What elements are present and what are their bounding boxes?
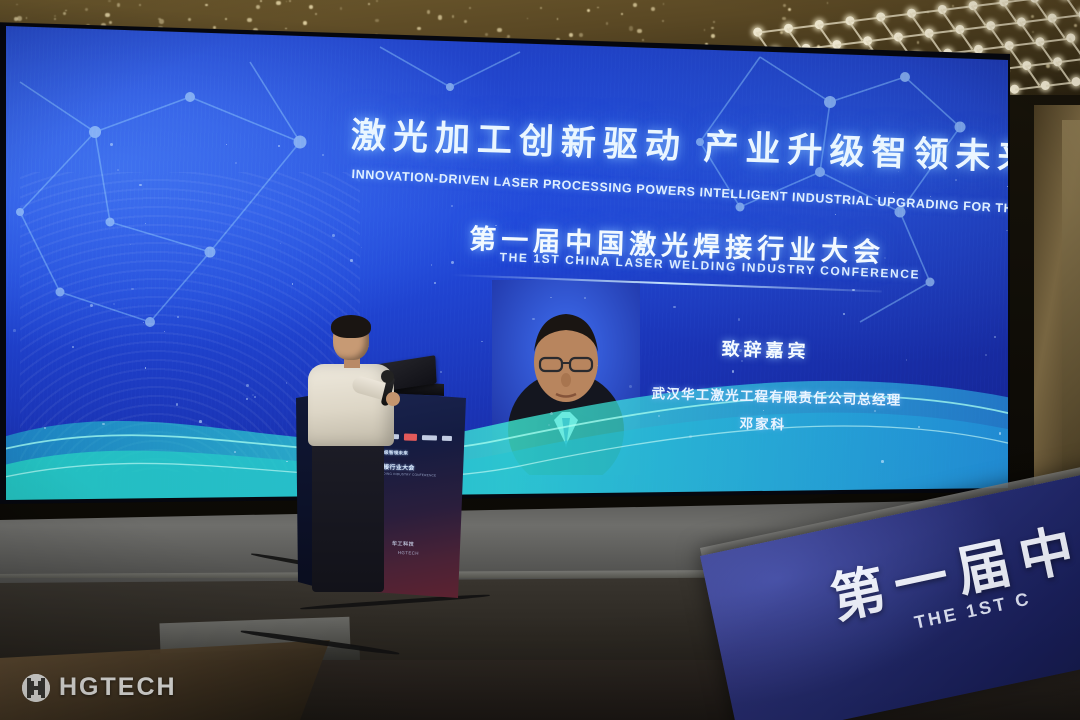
- chandelier-strut: [1032, 0, 1047, 18]
- screen-particle: [739, 349, 742, 352]
- chandelier-strut: [837, 41, 865, 46]
- ceiling-light-speck: [276, 1, 281, 6]
- screen-particle: [176, 403, 179, 406]
- chandelier-strut: [1010, 42, 1038, 47]
- ceiling-light-speck: [713, 21, 714, 22]
- screen-particle: [843, 313, 845, 315]
- ceiling-light-speck: [54, 18, 56, 20]
- presenter-lower-body: [312, 442, 384, 592]
- chandelier-strut: [927, 33, 942, 54]
- screen-particle: [292, 283, 293, 284]
- chandelier-strut: [971, 5, 986, 26]
- ceiling-light-speck: [303, 21, 307, 25]
- screen-particle: [955, 179, 957, 181]
- chandelier-strut: [820, 21, 848, 26]
- screen-particle: [999, 432, 1001, 434]
- chandelier-strut: [868, 37, 896, 42]
- microphone-head-icon: [381, 370, 394, 383]
- screen-particle: [350, 259, 353, 262]
- presenter: [300, 318, 410, 603]
- presenter-hand: [386, 392, 400, 406]
- ceiling-light-speck: [662, 20, 664, 22]
- chandelier-strut: [912, 9, 940, 14]
- chandelier-strut: [789, 24, 817, 29]
- screen-particle: [110, 143, 113, 146]
- ceiling-light-speck: [827, 2, 828, 3]
- ceiling-light-speck: [340, 7, 343, 10]
- chandelier-strut: [958, 29, 973, 50]
- chandelier-strut: [1022, 18, 1050, 23]
- screen-particle: [72, 346, 74, 348]
- screen-particle: [451, 205, 453, 207]
- screen-particle: [143, 322, 144, 323]
- ceiling-light-speck: [139, 4, 141, 6]
- screen-particle: [131, 288, 133, 290]
- ceiling-light-speck: [557, 18, 559, 20]
- screen-particle: [199, 420, 202, 423]
- screen-particle: [246, 384, 249, 387]
- screen-particle: [481, 341, 482, 342]
- ceiling-light-speck: [788, 8, 791, 11]
- screen-particle: [177, 316, 179, 318]
- screen-particle: [13, 329, 16, 332]
- chandelier-strut: [1004, 0, 1032, 3]
- chandelier-strut: [1050, 18, 1065, 39]
- screen-particle: [102, 423, 104, 425]
- chandelier-strut: [960, 25, 988, 30]
- ceiling-light-speck: [159, 19, 163, 23]
- chandelier-strut: [1040, 38, 1068, 43]
- ceiling-light-speck: [629, 26, 633, 30]
- ceiling-light-speck: [17, 16, 21, 20]
- led-screen: 激光加工创新驱动 产业升级智领未来 INNOVATION-DRIVEN LASE…: [0, 22, 1012, 504]
- chandelier-strut: [1025, 65, 1040, 86]
- chandelier-strut: [930, 29, 958, 34]
- ceiling-light-speck: [633, 3, 637, 7]
- chandelier-strut: [1053, 14, 1080, 19]
- podium-logo-6: [422, 435, 437, 441]
- chandelier-strut: [943, 5, 971, 10]
- screen-particle: [918, 426, 920, 428]
- screen-particle: [985, 152, 987, 154]
- screen-particle: [597, 365, 598, 366]
- ceiling-light-speck: [704, 29, 705, 30]
- chandelier-strut: [881, 13, 909, 18]
- screen-particle: [881, 460, 884, 463]
- ceiling-light-speck: [587, 9, 590, 12]
- ceiling-light-speck: [597, 7, 599, 9]
- podium-logo-7: [442, 435, 452, 440]
- ceiling-light-speck: [63, 12, 66, 15]
- chandelier-strut: [940, 9, 955, 30]
- chandelier-strut: [758, 28, 786, 33]
- chandelier-strut: [1015, 85, 1043, 90]
- ceiling-light-speck: [540, 7, 542, 9]
- screen-particle: [689, 435, 692, 438]
- screen-particle: [835, 214, 836, 215]
- screen-particle: [254, 396, 256, 398]
- ceiling-light-speck: [376, 0, 377, 1]
- screen-particle: [286, 382, 287, 383]
- conference-photo: 激光加工创新驱动 产业升级智领未来 INNOVATION-DRIVEN LASE…: [0, 0, 1080, 720]
- ceiling-light-speck: [289, 0, 291, 2]
- ceiling-light-speck: [205, 4, 207, 6]
- ceiling-light-speck: [469, 7, 471, 9]
- presenter-hair: [331, 315, 371, 338]
- ceiling-light-speck: [464, 20, 467, 23]
- ceiling-light-speck: [26, 17, 28, 19]
- chandelier-strut: [786, 28, 801, 49]
- chandelier-strut: [1046, 81, 1074, 86]
- screen-particle: [234, 451, 236, 453]
- ceiling-light-speck: [417, 27, 421, 31]
- ceiling-light-speck: [438, 15, 442, 19]
- chandelier-strut: [974, 2, 1002, 7]
- screen-particle: [884, 257, 886, 259]
- ceiling-light-speck: [368, 3, 370, 5]
- screen-particle: [898, 171, 899, 172]
- screen-particle: [246, 398, 247, 399]
- screen-particle: [729, 240, 730, 241]
- screen-particle: [679, 387, 680, 388]
- ceiling-light-speck: [711, 34, 715, 38]
- screen-particle: [875, 195, 876, 196]
- chandelier-strut: [991, 22, 1019, 27]
- screen-particle: [849, 144, 851, 146]
- chandelier-crystal: [1071, 77, 1080, 87]
- ceiling-light-speck: [782, 17, 786, 21]
- chandelier-strut: [1055, 61, 1070, 82]
- chandelier-strut: [1063, 0, 1078, 15]
- chandelier-strut: [1002, 1, 1017, 22]
- chandelier-strut: [1027, 62, 1055, 67]
- ceiling-light-speck: [285, 28, 286, 29]
- chandelier-strut: [850, 17, 878, 22]
- screen-particle: [550, 297, 551, 298]
- wave-graphic: [0, 318, 1012, 504]
- ceiling-light-speck: [452, 15, 454, 17]
- chandelier-strut: [879, 17, 894, 38]
- ceiling-light-speck: [711, 27, 714, 30]
- chandelier-strut: [909, 13, 924, 34]
- ceiling-light-speck: [247, 18, 251, 22]
- hgtech-logo-icon: [22, 674, 50, 702]
- screen-particle: [579, 239, 581, 241]
- chandelier-strut: [1019, 21, 1034, 42]
- chandelier-strut: [1038, 41, 1053, 62]
- chandelier-strut: [817, 24, 832, 45]
- chandelier-strut: [848, 20, 863, 41]
- ceiling-light-speck: [507, 35, 510, 38]
- screen-particle: [332, 234, 335, 237]
- screen-particle: [434, 282, 436, 284]
- screen-particle: [145, 367, 146, 368]
- ceiling-light-speck: [497, 28, 501, 32]
- screen-particle: [987, 409, 988, 410]
- ceiling-light-speck: [105, 13, 109, 17]
- watermark-brand: HGTECH: [59, 673, 177, 702]
- watermark: HGTECH: [22, 673, 177, 702]
- ceiling-light-speck: [256, 5, 260, 9]
- chandelier-strut: [899, 33, 927, 38]
- ceiling-light-speck: [663, 3, 664, 4]
- chandelier-strut: [979, 45, 1007, 50]
- chandelier-strut: [988, 25, 1003, 46]
